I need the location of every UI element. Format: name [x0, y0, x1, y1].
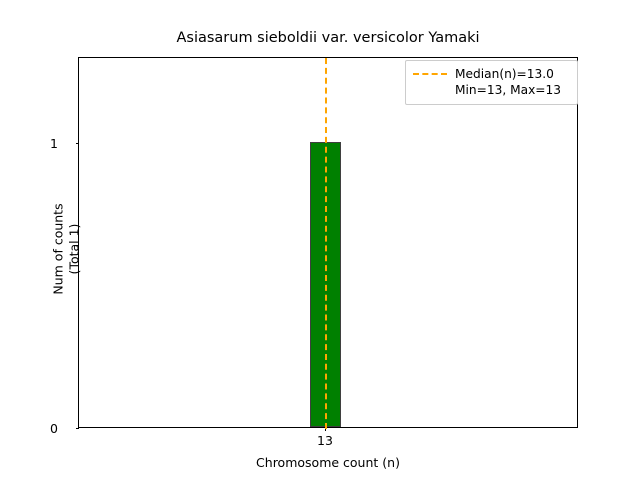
chart-title: Asiasarum sieboldii var. versicolor Yama…: [78, 30, 578, 46]
chart-legend: Median(n)=13.0 Min=13, Max=13: [405, 60, 578, 105]
chart-figure: Asiasarum sieboldii var. versicolor Yama…: [0, 0, 640, 480]
x-axis-label: Chromosome count (n): [78, 455, 578, 470]
median-line: [325, 58, 327, 429]
legend-entry-median: Median(n)=13.0 Min=13, Max=13: [413, 66, 570, 98]
legend-minmax-label: Min=13, Max=13: [455, 83, 561, 97]
y-axis-label: Num of counts (Total 1): [51, 64, 83, 435]
legend-median-label: Median(n)=13.0: [455, 67, 554, 81]
legend-entry-text: Median(n)=13.0 Min=13, Max=13: [455, 66, 561, 98]
x-tick-label-13: 13: [317, 433, 333, 448]
plot-area: [78, 57, 578, 428]
dashed-line-icon: [413, 66, 447, 81]
